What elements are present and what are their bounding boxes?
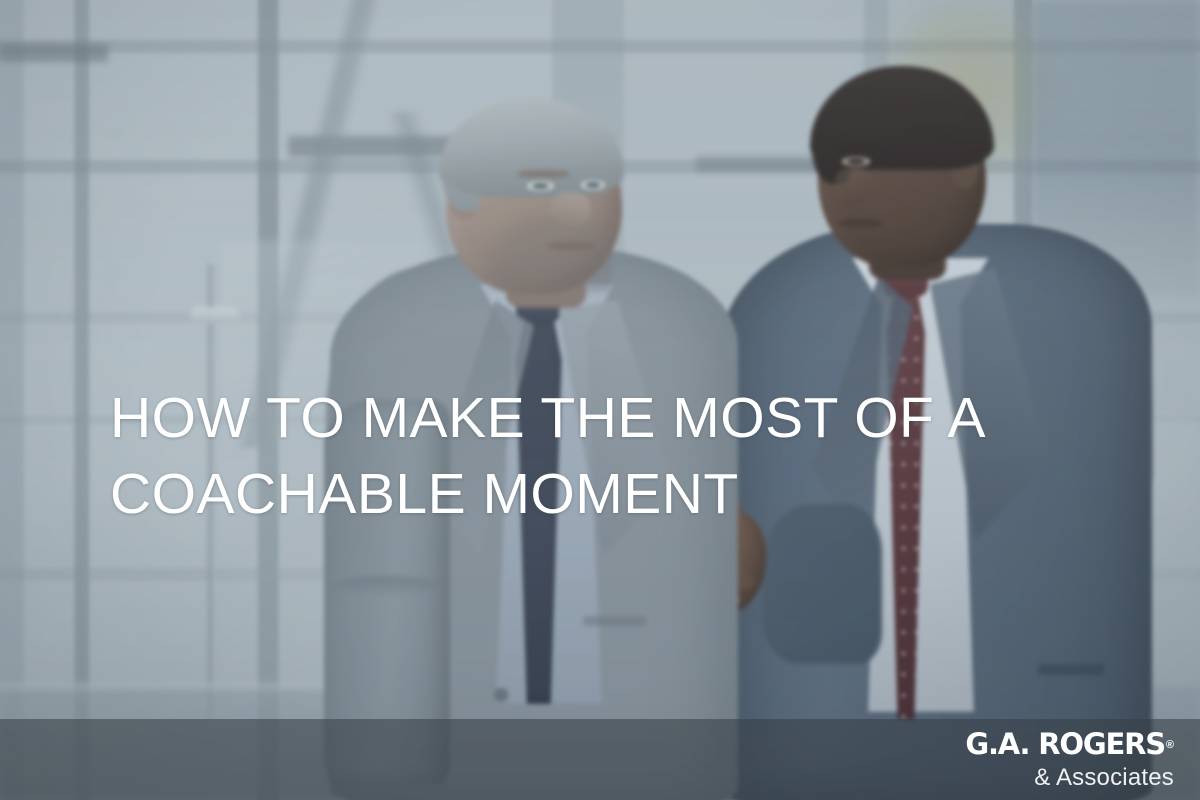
bottom-overlay-bar: G.A. ROGERS® & Associates	[0, 719, 1200, 800]
company-logo[interactable]: G.A. ROGERS® & Associates	[965, 730, 1174, 790]
page-title: HOW TO MAKE THE MOST OF A COACHABLE MOME…	[110, 380, 1110, 532]
logo-tagline: & Associates	[965, 766, 1174, 790]
article-header-banner: HOW TO MAKE THE MOST OF A COACHABLE MOME…	[0, 0, 1200, 800]
registered-trademark-icon: ®	[1166, 739, 1174, 751]
logo-wordmark: G.A. ROGERS	[965, 730, 1165, 759]
